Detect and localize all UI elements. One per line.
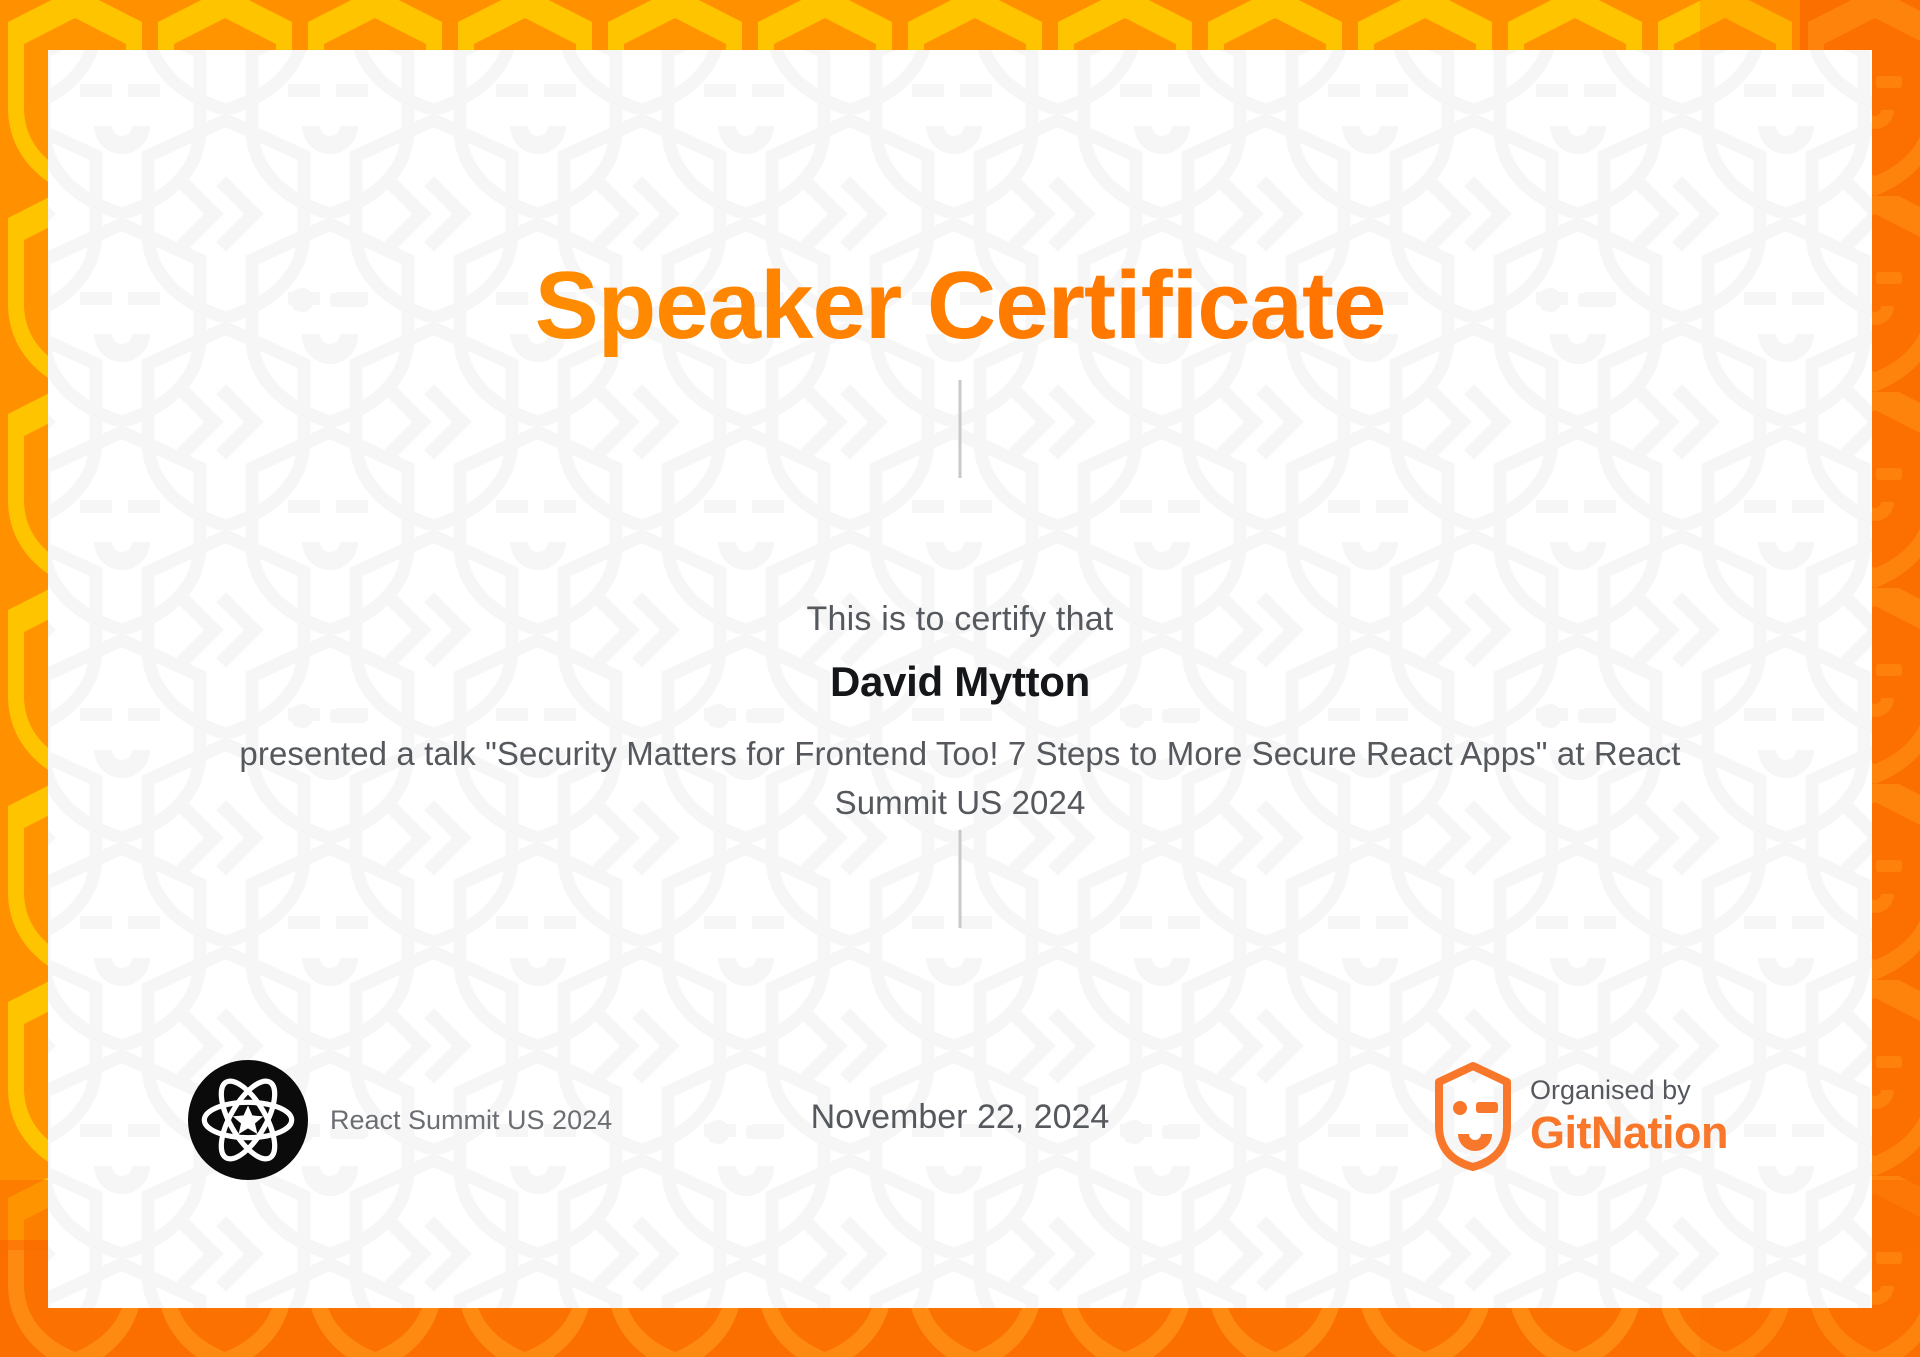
- certificate-card: Speaker Certificate This is to certify t…: [48, 50, 1872, 1308]
- speaker-certificate: Speaker Certificate This is to certify t…: [0, 0, 1920, 1357]
- organised-by-label: Organised by: [1530, 1077, 1728, 1104]
- organiser-branding: Organised by GitNation: [1432, 1060, 1728, 1172]
- talk-description: presented a talk "Security Matters for F…: [210, 730, 1710, 828]
- page-title: Speaker Certificate: [48, 256, 1872, 357]
- event-name-label: React Summit US 2024: [330, 1105, 612, 1136]
- gitnation-shield-face-icon: [1432, 1060, 1514, 1172]
- certificate-footer: React Summit US 2024 November 22, 2024: [48, 1050, 1872, 1240]
- divider-bottom: [959, 830, 962, 928]
- react-atom-icon: [188, 1060, 308, 1180]
- certify-line: This is to certify that: [48, 600, 1872, 639]
- divider-top: [959, 380, 962, 478]
- organiser-name: GitNation: [1530, 1110, 1728, 1155]
- recipient-name: David Mytton: [48, 658, 1872, 706]
- event-branding: React Summit US 2024: [188, 1060, 612, 1180]
